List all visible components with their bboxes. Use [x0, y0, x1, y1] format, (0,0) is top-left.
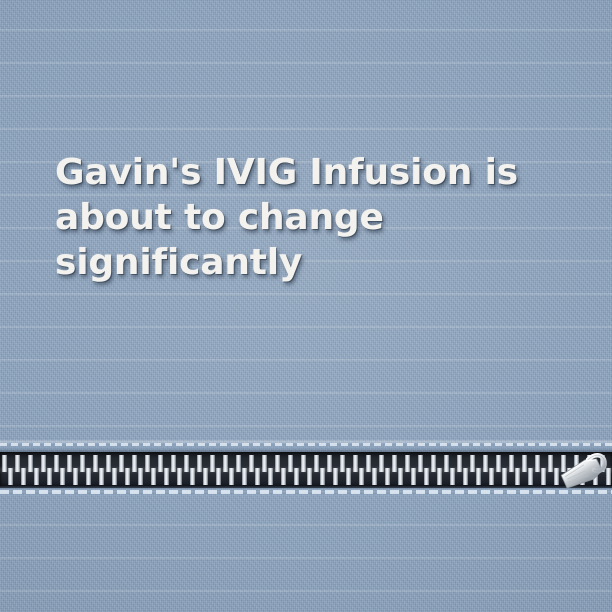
fabric-seam-lines [0, 0, 612, 612]
graphic-canvas: Gavin's IVIG Infusion is about to change… [0, 0, 612, 612]
zipper-bottom-stitching [0, 490, 612, 494]
zipper-teeth [0, 455, 612, 485]
zipper-graphic [0, 440, 612, 498]
zipper-pull-tab [560, 452, 610, 492]
zipper-top-stitching [0, 443, 612, 446]
zipper-pull-tab-icon [560, 452, 610, 492]
headline-text: Gavin's IVIG Infusion is about to change… [55, 150, 575, 285]
zipper-teeth-lower-row [0, 468, 612, 485]
